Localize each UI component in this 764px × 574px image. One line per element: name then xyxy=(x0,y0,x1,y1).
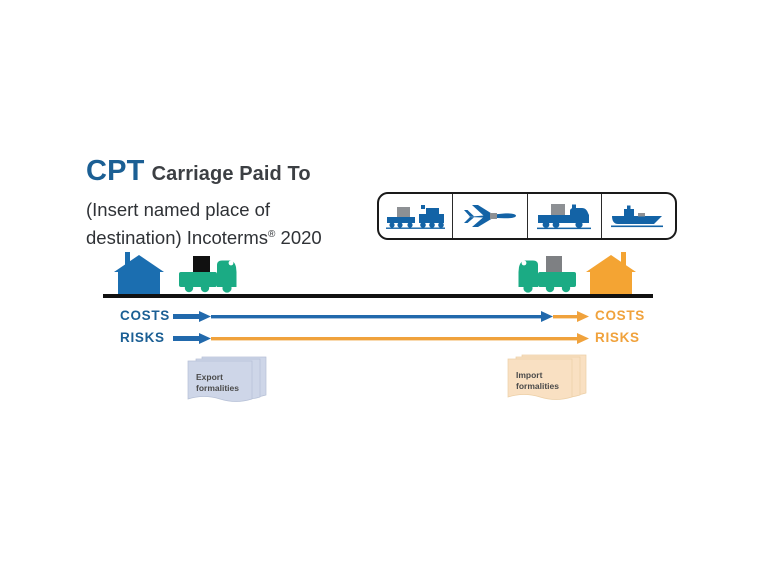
cpt-incoterms-diagram: CPTCarriage Paid To (Insert named place … xyxy=(0,0,764,574)
incoterm-code: CPT xyxy=(86,155,145,187)
diagram-title: CPTCarriage Paid To xyxy=(86,155,311,188)
costs-arrows xyxy=(103,307,653,327)
import-formalities-line-1: Import xyxy=(516,370,542,380)
costs-row: COSTS COSTS xyxy=(103,307,653,327)
export-formalities-stack: Export formalities xyxy=(178,355,270,405)
subtitle-year: 2020 xyxy=(275,227,321,248)
ship-icon xyxy=(608,203,668,229)
import-formalities-line-2: formalities xyxy=(516,381,559,391)
subtitle-line-1: (Insert named place of xyxy=(86,199,270,220)
transport-mode-road xyxy=(528,194,602,238)
import-formalities-label: Import formalities xyxy=(516,370,576,392)
import-formalities-stack: Import formalities xyxy=(498,353,590,403)
export-formalities-label: Export formalities xyxy=(196,372,256,394)
destination-building-icon xyxy=(582,250,640,296)
risks-arrows xyxy=(103,329,653,349)
truck-icon xyxy=(535,201,593,231)
transport-modes-box xyxy=(377,192,677,240)
export-formalities-line-1: Export xyxy=(196,372,223,382)
subtitle-line-2: destination) Incoterms xyxy=(86,227,268,248)
transport-mode-sea xyxy=(602,194,675,238)
transport-mode-rail xyxy=(379,194,453,238)
train-icon xyxy=(385,202,447,230)
airplane-icon xyxy=(460,201,520,231)
risks-row: RISKS RISKS xyxy=(103,329,653,349)
transport-mode-air xyxy=(453,194,527,238)
destination-truck-icon xyxy=(516,253,578,296)
export-formalities-line-2: formalities xyxy=(196,383,239,393)
origin-building-icon xyxy=(110,250,168,296)
incoterm-name: Carriage Paid To xyxy=(152,163,311,185)
diagram-subtitle: (Insert named place of destination) Inco… xyxy=(86,197,376,250)
origin-truck-icon xyxy=(177,253,239,296)
